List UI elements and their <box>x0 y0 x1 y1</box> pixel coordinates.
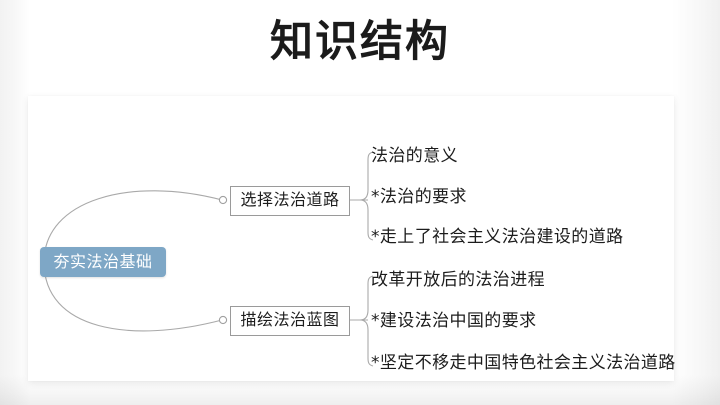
mindmap-leaf-node[interactable]: 改革开放后的法治进程 <box>371 269 545 291</box>
page-title: 知识结构 <box>0 14 720 70</box>
mindmap-leaf-node[interactable]: *法治的要求 <box>371 186 467 208</box>
mindmap-branch-node-0[interactable]: 选择法治道路 <box>230 186 350 216</box>
slide-canvas: 知识结构 夯实法治基础 选择法治道路 描绘法治蓝图 法治的意义 *法治的要求 *… <box>0 0 720 405</box>
mindmap-root-node[interactable]: 夯实法治基础 <box>40 247 166 277</box>
mindmap-leaf-node[interactable]: 法治的意义 <box>371 145 458 167</box>
mindmap-leaf-node[interactable]: *建设法治中国的要求 <box>371 310 537 332</box>
mindmap-leaf-node[interactable]: *走上了社会主义法治建设的道路 <box>371 226 624 248</box>
mindmap-leaf-node[interactable]: *坚定不移走中国特色社会主义法治道路 <box>371 352 676 374</box>
mindmap-branch-node-1[interactable]: 描绘法治蓝图 <box>230 306 350 336</box>
